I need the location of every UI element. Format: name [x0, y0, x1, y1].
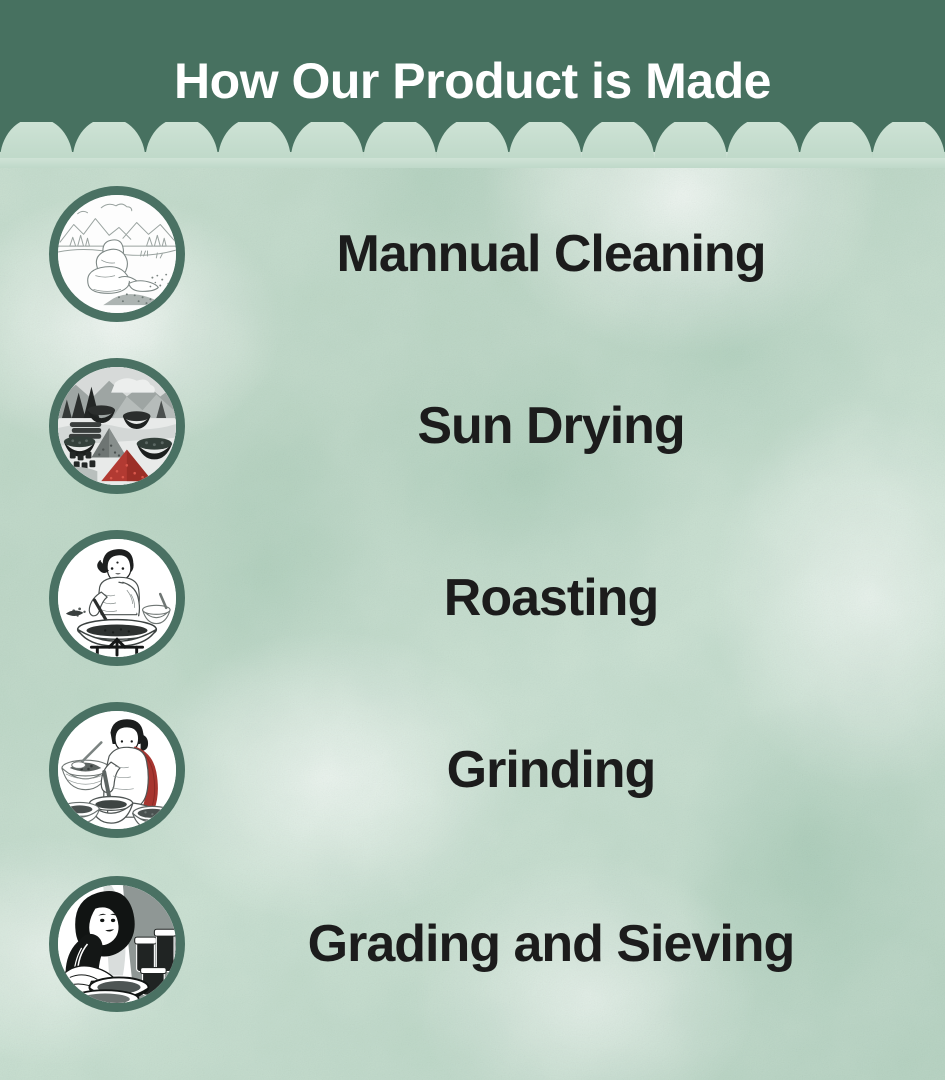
infographic-poster: How Our Product is Made: [0, 0, 945, 1080]
process-steps-list: Mannual Cleaning: [0, 168, 945, 1080]
winnowing-woman-icon: [49, 186, 185, 322]
step-row: Grading and Sieving: [0, 858, 945, 1030]
mortar-pestle-icon: [49, 702, 185, 838]
step-label: Mannual Cleaning: [185, 228, 945, 280]
step-label: Sun Drying: [185, 400, 945, 452]
step-label: Roasting: [185, 572, 945, 624]
step-row: Mannual Cleaning: [0, 168, 945, 340]
step-label: Grinding: [185, 744, 945, 796]
step-row: Grinding: [0, 684, 945, 856]
roasting-pan-icon: [49, 530, 185, 666]
step-label: Grading and Sieving: [185, 918, 945, 970]
page-title: How Our Product is Made: [0, 52, 945, 110]
spices-drying-icon: [49, 358, 185, 494]
step-row: Sun Drying: [0, 340, 945, 512]
scalloped-divider: [0, 122, 945, 168]
sieving-woman-icon: [49, 876, 185, 1012]
step-row: Roasting: [0, 512, 945, 684]
